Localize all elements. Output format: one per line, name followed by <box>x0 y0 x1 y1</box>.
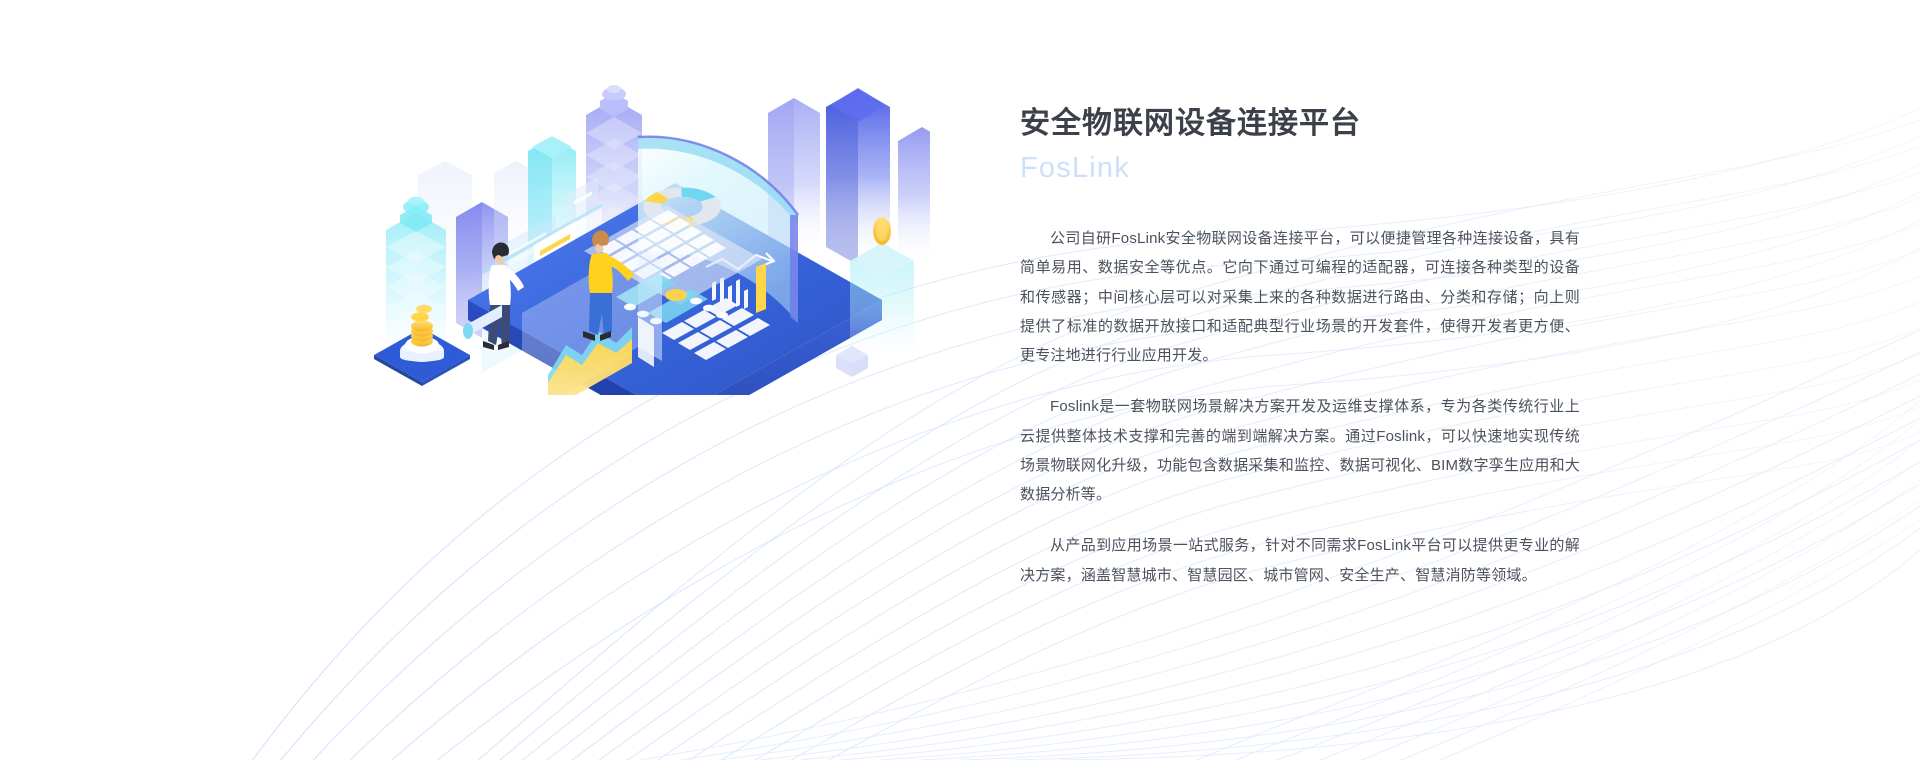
page-subtitle-brand: FosLink <box>1020 147 1580 191</box>
isometric-smart-city-illustration <box>370 55 930 395</box>
hero-text-column: 安全物联网设备连接平台 FosLink 公司自研FosLink安全物联网设备连接… <box>1020 104 1580 590</box>
background-wave-pattern <box>0 0 1920 760</box>
wave-lines-upper <box>75 120 1920 760</box>
description-paragraphs: 公司自研FosLink安全物联网设备连接平台，可以便捷管理各种连接设备，具有简单… <box>1020 224 1580 590</box>
wave-lines-lower <box>78 400 1920 760</box>
paragraph-3: 从产品到应用场景一站式服务，针对不同需求FosLink平台可以提供更专业的解决方… <box>1020 531 1580 590</box>
page-title: 安全物联网设备连接平台 <box>1020 104 1580 145</box>
paragraph-1: 公司自研FosLink安全物联网设备连接平台，可以便捷管理各种连接设备，具有简单… <box>1020 224 1580 370</box>
building-purple-3 <box>898 127 930 265</box>
paragraph-2: Foslink是一套物联网场景解决方案开发及运维支撑体系，专为各类传统行业上云提… <box>1020 392 1580 509</box>
wave-lines-ribbon <box>72 108 1920 760</box>
hero-section: 安全物联网设备连接平台 FosLink 公司自研FosLink安全物联网设备连接… <box>0 0 1920 760</box>
